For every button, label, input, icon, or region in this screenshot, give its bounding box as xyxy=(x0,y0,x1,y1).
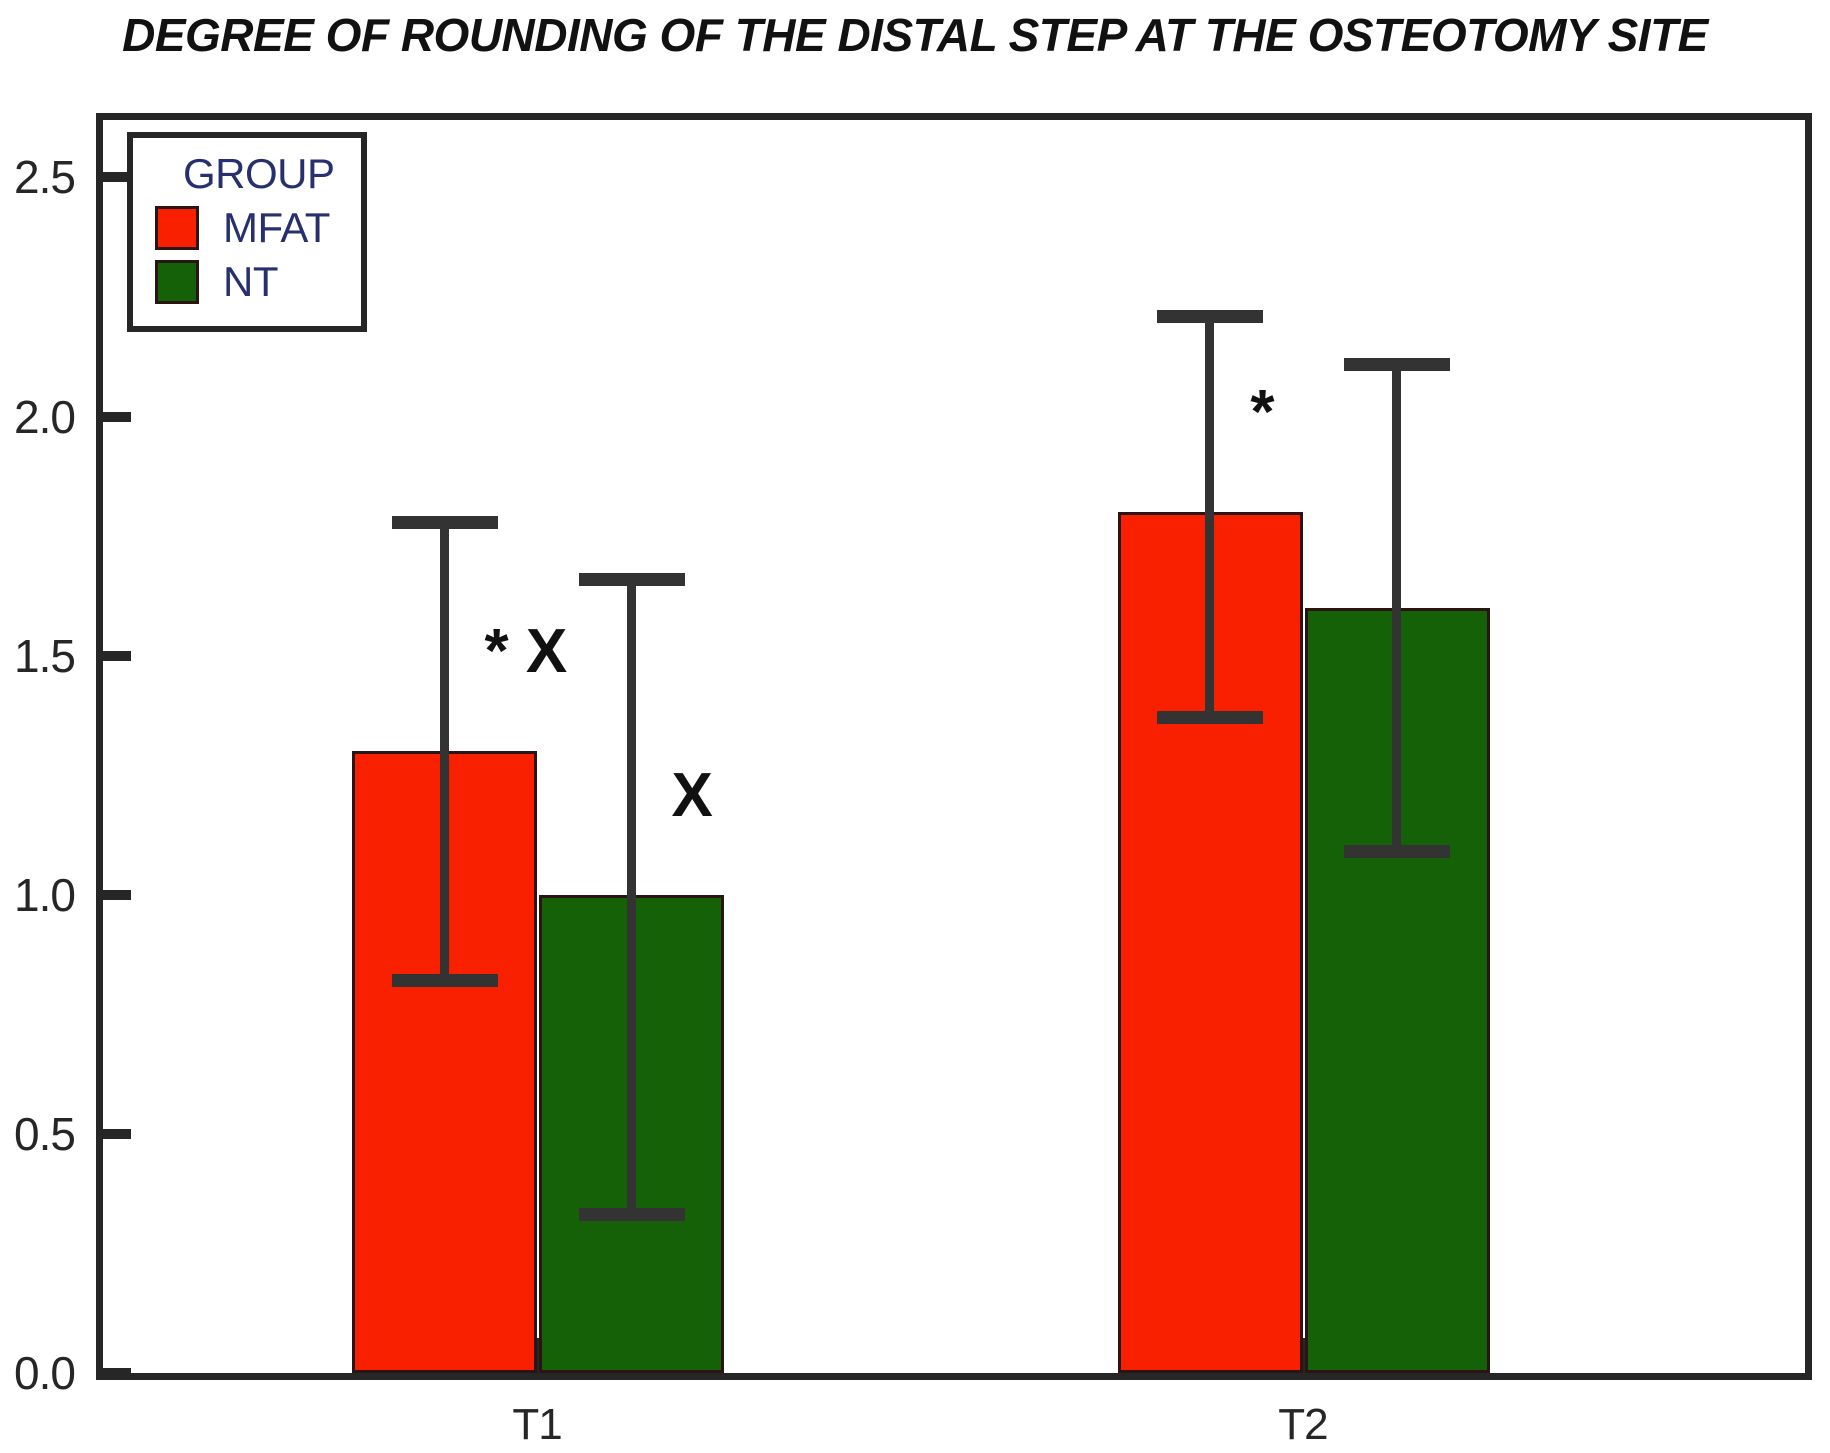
x-tick-label: T1 xyxy=(457,1400,617,1450)
y-tick-label: 1.5 xyxy=(14,629,75,683)
plot-inner: 0.00.51.01.52.02.5 T1T2 * X*X GROUP MFAT… xyxy=(103,120,1805,1373)
error-bar-stem xyxy=(1205,316,1214,718)
page-title: DEGREE OF ROUNDING OF THE DISTAL STEP AT… xyxy=(0,8,1830,62)
legend-label: MFAT xyxy=(223,204,330,252)
error-bar-cap-upper xyxy=(392,516,498,529)
legend-label: NT xyxy=(223,258,278,306)
legend-item-NT[interactable]: NT xyxy=(155,258,335,306)
error-bar-cap-lower xyxy=(579,1208,685,1221)
error-bar-cap-upper xyxy=(579,573,685,586)
legend-item-MFAT[interactable]: MFAT xyxy=(155,204,335,252)
legend-rows: MFATNT xyxy=(155,204,335,306)
y-tick-label: 0.5 xyxy=(14,1107,75,1161)
error-bar-stem xyxy=(1392,364,1401,852)
y-tick-mark xyxy=(103,412,131,422)
legend-title: GROUP xyxy=(183,150,335,198)
plot-area: 0.00.51.01.52.02.5 T1T2 * X*X GROUP MFAT… xyxy=(96,113,1812,1380)
x-tick-label: T2 xyxy=(1223,1400,1383,1450)
legend: GROUP MFATNT xyxy=(127,132,367,332)
y-tick-label: 2.0 xyxy=(14,390,75,444)
legend-swatch-MFAT xyxy=(155,206,199,250)
error-bar-stem xyxy=(627,579,636,1215)
error-bar-cap-upper xyxy=(1344,358,1450,371)
significance-marker-T2-MFAT: * xyxy=(1250,382,1274,444)
y-tick-mark xyxy=(103,890,131,900)
significance-marker-T1-MFAT: * X xyxy=(485,621,568,683)
error-bar-cap-lower xyxy=(1157,711,1263,724)
error-bar-cap-lower xyxy=(392,974,498,987)
error-bar-cap-upper xyxy=(1157,310,1263,323)
y-tick-label: 0.0 xyxy=(14,1346,75,1400)
legend-swatch-NT xyxy=(155,260,199,304)
y-tick-mark xyxy=(103,1368,131,1378)
y-tick-label: 1.0 xyxy=(14,868,75,922)
error-bar-cap-lower xyxy=(1344,845,1450,858)
y-tick-mark xyxy=(103,1129,131,1139)
error-bar-stem xyxy=(440,522,449,981)
significance-marker-T1-NT: X xyxy=(672,765,713,827)
y-tick-mark xyxy=(103,651,131,661)
y-tick-label: 2.5 xyxy=(14,150,75,204)
